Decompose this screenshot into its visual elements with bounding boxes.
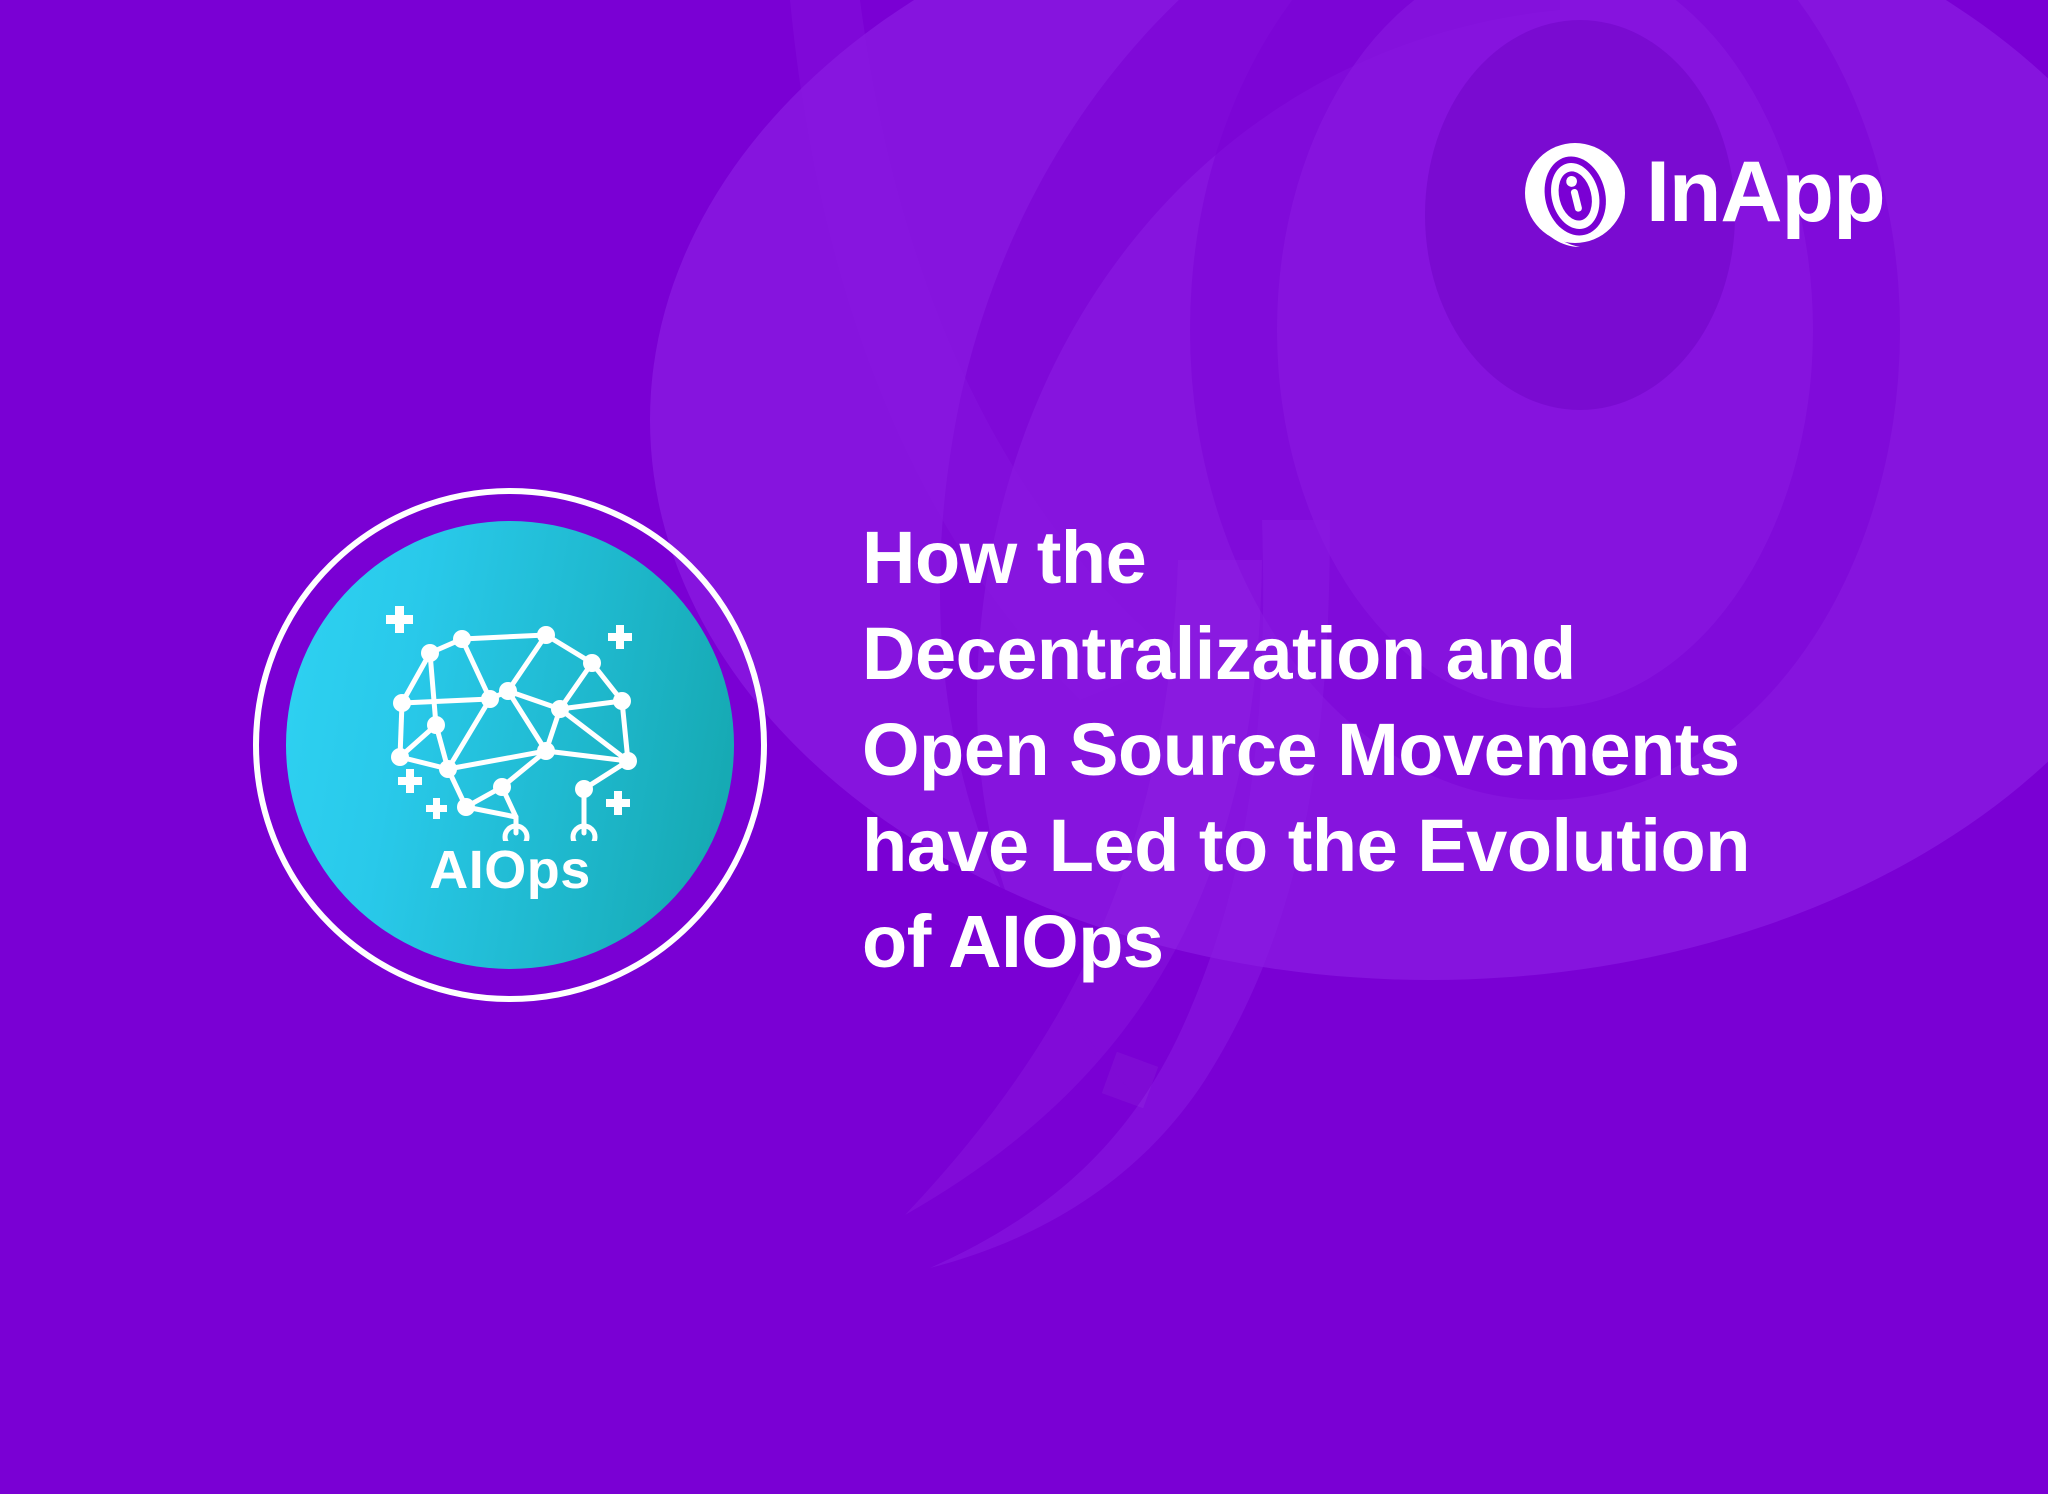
banner-slide: InApp	[0, 0, 2048, 1494]
aiops-badge-label: AIOps	[286, 843, 734, 897]
inapp-wordmark: InApp	[1646, 149, 1885, 241]
page-title: How the Decentralization and Open Source…	[862, 510, 1982, 990]
inapp-logo: InApp	[1520, 140, 1885, 250]
aiops-badge: AIOps	[253, 488, 767, 1002]
headline-line-2: Decentralization and	[862, 606, 1982, 702]
badge-disc: AIOps	[286, 521, 734, 969]
diamond-accent-icon	[1102, 1052, 1158, 1108]
inapp-circle-i-icon	[1520, 140, 1630, 250]
headline-line-3: Open Source Movements	[862, 702, 1982, 798]
headline-line-1: How the	[862, 510, 1982, 606]
headline-line-4: have Led to the Evolution	[862, 798, 1982, 894]
ai-brain-network-icon	[370, 591, 650, 841]
headline-line-5: of AIOps	[862, 894, 1982, 990]
